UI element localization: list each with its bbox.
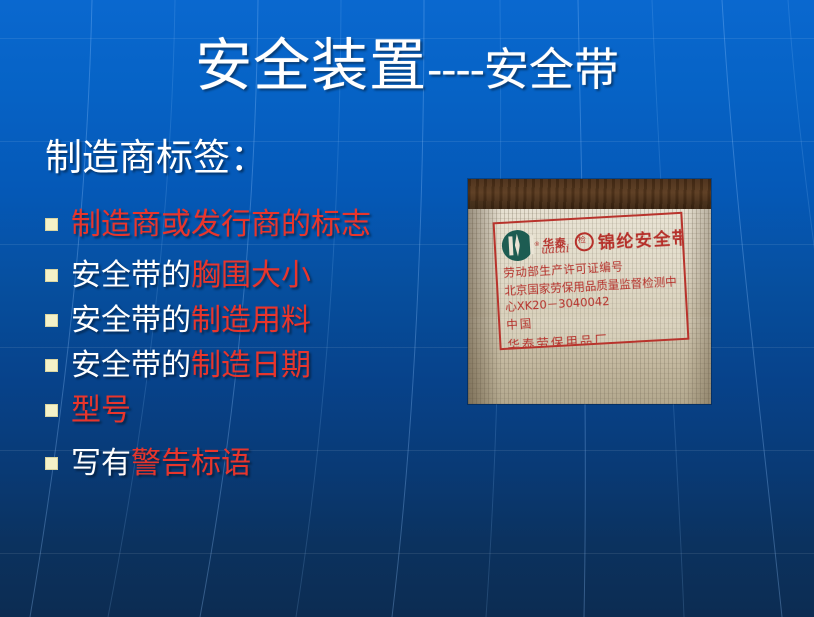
square-bullet-icon xyxy=(45,404,58,417)
section-heading: 制造商标签： xyxy=(45,138,267,179)
list-item: 写有警告标语 xyxy=(45,444,405,483)
square-bullet-icon xyxy=(45,269,58,282)
slide-title: 安全装置----安全带 xyxy=(0,38,814,95)
list-item-text-red: 胸围大小 xyxy=(191,258,311,293)
slide-title-main: 安全装置 xyxy=(195,33,427,99)
bullet-list: 制造商或发行商的标志 安全带的胸围大小 安全带的制造用料 安全带的制造日期 型号… xyxy=(45,205,405,489)
list-item: 制造商或发行商的标志 xyxy=(45,205,405,244)
list-item-text-red: 制造商或发行商的标志 xyxy=(71,207,371,242)
list-item-text-red: 制造日期 xyxy=(191,348,311,383)
label-license-number: XK20－3040042 xyxy=(516,294,609,313)
photo-shadow-right xyxy=(685,201,711,404)
wooden-background xyxy=(468,179,711,209)
list-item-text: 制造商或发行商的标志 xyxy=(71,205,371,244)
square-bullet-icon xyxy=(45,359,58,372)
list-item-text: 写有警告标语 xyxy=(71,444,251,483)
slide-title-dash: ---- xyxy=(427,43,484,96)
presentation-slide: 安全装置----安全带 制造商标签： 制造商或发行商的标志 安全带的胸围大小 安… xyxy=(0,0,814,617)
label-brand-latin: uatai xyxy=(541,242,570,257)
list-item-text-red: 型号 xyxy=(71,393,131,428)
slide-title-sub: 安全带 xyxy=(484,43,619,96)
list-item-text-white: 写有 xyxy=(71,446,131,481)
square-bullet-icon xyxy=(45,457,58,470)
square-bullet-icon xyxy=(45,218,58,231)
huatai-logo-icon xyxy=(501,229,534,262)
registered-trademark-icon: ® xyxy=(534,240,540,247)
inspection-seal-icon xyxy=(574,231,594,251)
list-item-text: 安全带的制造用料 xyxy=(71,301,311,340)
list-item: 安全带的制造用料 xyxy=(45,301,405,340)
list-item-text-red: 警告标语 xyxy=(131,446,251,481)
list-item: 安全带的胸围大小 xyxy=(45,256,405,295)
safety-belt-label-photo: ® 华泰 uatai 锦纶安全带 劳动部生产许可证编号 北京国家劳保用品质量监督… xyxy=(468,179,711,404)
label-product-line: 锦纶安全带 xyxy=(597,223,689,253)
list-item-text: 型号 xyxy=(71,391,131,430)
square-bullet-icon xyxy=(45,314,58,327)
list-item-text-red: 制造用料 xyxy=(191,303,311,338)
list-item-text: 安全带的制造日期 xyxy=(71,346,311,385)
list-item-text-white: 安全带的 xyxy=(71,348,191,383)
list-item-text-white: 安全带的 xyxy=(71,303,191,338)
printed-manufacturer-label: ® 华泰 uatai 锦纶安全带 劳动部生产许可证编号 北京国家劳保用品质量监督… xyxy=(493,212,690,350)
list-item-text-white: 安全带的 xyxy=(71,258,191,293)
label-city-text: 北京 xyxy=(504,283,528,298)
list-item: 型号 xyxy=(45,391,405,430)
list-item-text: 安全带的胸围大小 xyxy=(71,256,311,295)
label-country: 中国 xyxy=(506,315,534,332)
list-item: 安全带的制造日期 xyxy=(45,346,405,385)
